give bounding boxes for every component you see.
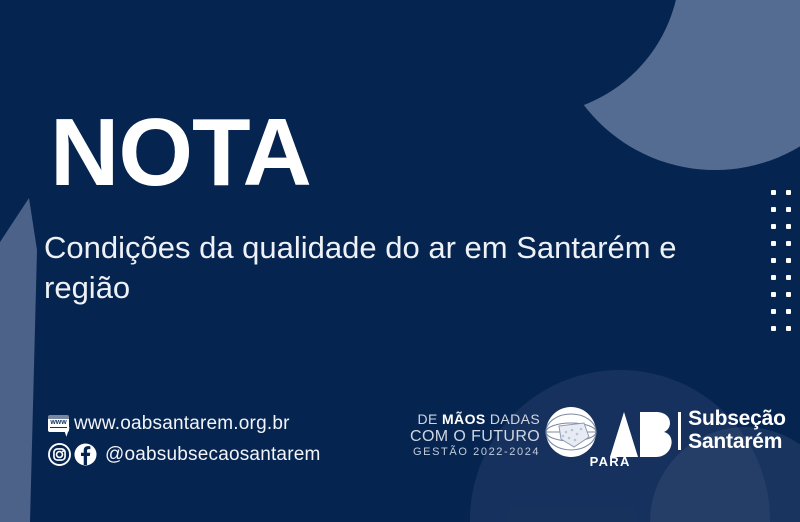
dot (771, 207, 776, 212)
facebook-icon (74, 443, 97, 466)
dot (786, 326, 791, 331)
dot (786, 241, 791, 246)
website-row: www www.oabsantarem.org.br (48, 408, 321, 439)
oab-logo-lockup: DE MÃOS DADAS COM O FUTURO GESTÃO 2022-2… (410, 406, 786, 468)
oab-state-label: PARÁ (544, 454, 676, 469)
campaign-tagline: DE MÃOS DADAS COM O FUTURO GESTÃO 2022-2… (410, 406, 540, 458)
subsection-line-1: Subseção (688, 408, 786, 431)
dot (771, 326, 776, 331)
dot (771, 309, 776, 314)
oab-nota-banner: NOTA Condições da qualidade do ar em San… (0, 0, 800, 522)
dot (786, 292, 791, 297)
dot (786, 207, 791, 212)
tagline-line-3: GESTÃO 2022-2024 (410, 446, 540, 458)
dot (771, 190, 776, 195)
dot (771, 292, 776, 297)
dot (786, 275, 791, 280)
circle-decoration-top-right (550, 0, 800, 170)
instagram-icon (48, 443, 71, 466)
circle-decoration-top-right-overlay (380, 0, 680, 115)
social-handle-label: @oabsubsecaosantarem (105, 444, 321, 466)
page-title: NOTA (50, 105, 311, 201)
dot (771, 224, 776, 229)
page-subtitle: Condições da qualidade do ar em Santarém… (44, 228, 744, 307)
contact-block: www www.oabsantarem.org.br (48, 408, 321, 470)
dot (786, 309, 791, 314)
wedge-decoration-left (0, 190, 40, 522)
dot-grid-pattern (771, 190, 800, 343)
dot (771, 258, 776, 263)
tagline-line-1: DE MÃOS DADAS (410, 412, 540, 428)
subsection-label: Subseção Santarém (688, 406, 786, 453)
tagline-line-2: COM O FUTURO (410, 428, 540, 446)
website-label: www.oabsantarem.org.br (74, 413, 290, 435)
dot (771, 275, 776, 280)
dot (786, 190, 791, 195)
dot (786, 224, 791, 229)
dot (786, 258, 791, 263)
oab-globe-logo: PARÁ (544, 406, 676, 468)
social-row: @oabsubsecaosantarem (48, 439, 321, 470)
subsection-line-2: Santarém (688, 431, 786, 454)
dot (771, 241, 776, 246)
vertical-divider-icon (678, 412, 681, 450)
www-browser-icon: www (48, 415, 69, 432)
